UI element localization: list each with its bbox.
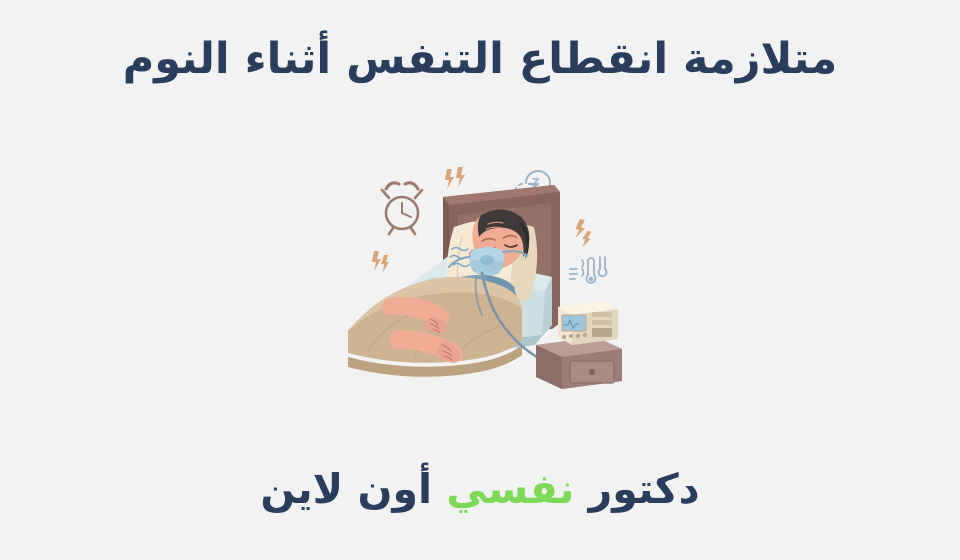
snore-thermometer-icon	[570, 257, 607, 283]
page-title: متلازمة انقطاع التنفس أثناء النوم	[123, 35, 838, 84]
alarm-clock-icon	[382, 183, 422, 234]
brand-region: دكتور نفسي أون لاين	[0, 420, 960, 560]
brand-prefix: دكتور	[574, 465, 699, 513]
medical-monitor	[558, 301, 618, 345]
illustration-region	[0, 120, 960, 420]
brand-lockup: دكتور نفسي أون لاين	[260, 465, 699, 514]
sleep-apnea-illustration	[330, 145, 630, 395]
poster-canvas: متلازمة انقطاع التنفس أثناء النوم	[0, 0, 960, 560]
monitor-screen	[562, 315, 586, 331]
brand-suffix: أون لاين	[260, 465, 446, 513]
nightstand	[536, 337, 622, 389]
brand-accent-word: نفسي	[446, 465, 574, 513]
headline-region: متلازمة انقطاع التنفس أثناء النوم	[0, 0, 960, 120]
